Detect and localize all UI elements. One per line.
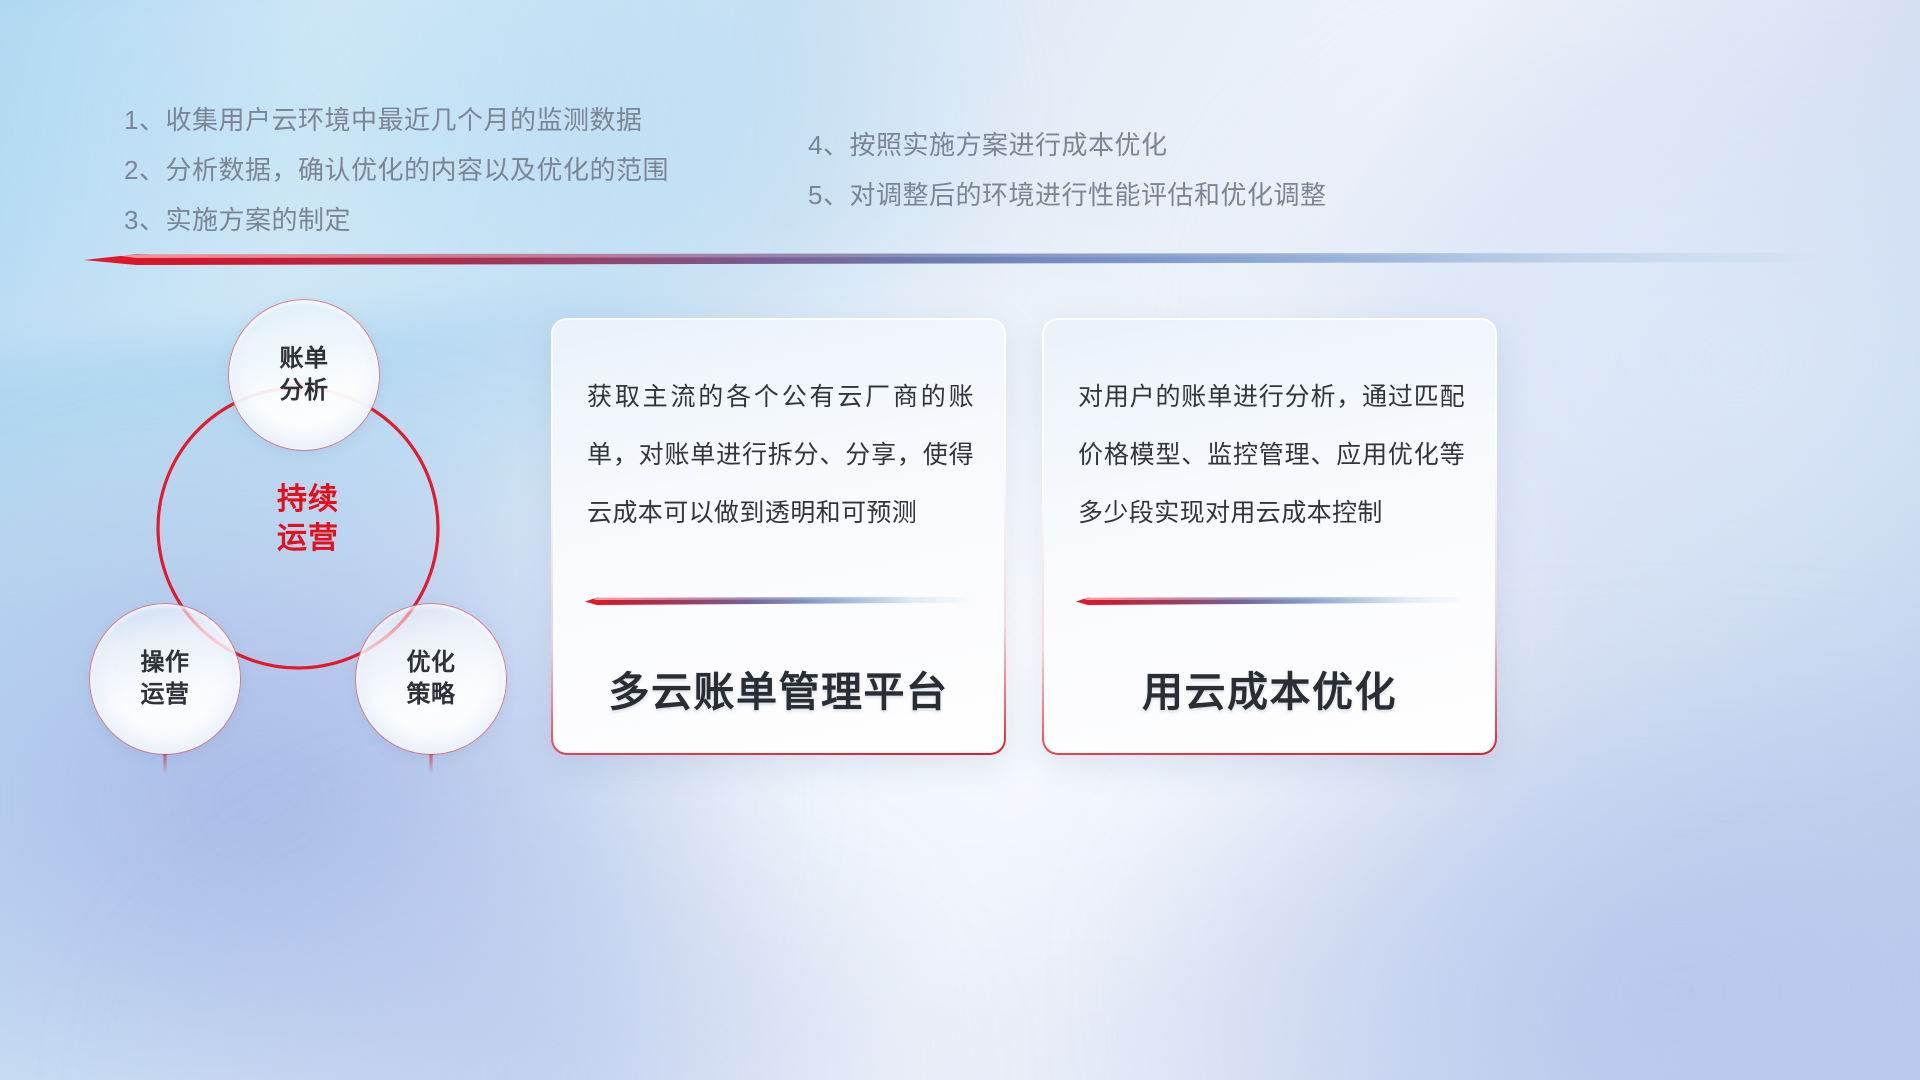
- card-surface: 对用户的账单进行分析，通过匹配价格模型、监控管理、应用优化等多少段实现对用云成本…: [1044, 320, 1495, 753]
- venn-center-line1: 持续: [277, 483, 339, 516]
- step-list-right: 4、按照实施方案进行成本优化 5、对调整后的环境进行性能评估和优化调整: [808, 120, 1568, 220]
- venn-node-label-line1: 账单: [280, 345, 329, 372]
- venn-node-operations[interactable]: 操作 运营: [90, 604, 240, 754]
- venn-diagram: 账单 分析 操作 运营 优化 策略 持续 运营: [78, 288, 548, 788]
- card-divider: [1076, 597, 1466, 605]
- venn-node-label: 优化 策略: [407, 647, 456, 710]
- background-glow-bottom-left: [115, 778, 960, 1080]
- step-item: 4、按照实施方案进行成本优化: [808, 120, 1568, 170]
- step-item: 1、收集用户云环境中最近几个月的监测数据: [124, 95, 884, 145]
- step-item: 2、分析数据，确认优化的内容以及优化的范围: [124, 145, 884, 195]
- venn-node-label-line2: 策略: [407, 681, 456, 708]
- step-item: 5、对调整后的环境进行性能评估和优化调整: [808, 170, 1568, 220]
- venn-node-label-line2: 运营: [141, 681, 190, 708]
- venn-node-label-line2: 分析: [280, 377, 329, 404]
- section-divider: [84, 253, 1832, 265]
- venn-node-bill-analysis[interactable]: 账单 分析: [229, 300, 379, 450]
- venn-node-label-line1: 操作: [141, 649, 190, 676]
- card-divider: [585, 597, 975, 605]
- card-title: 多云账单管理平台: [553, 658, 1004, 718]
- card-title: 用云成本优化: [1044, 658, 1495, 718]
- step-item: 3、实施方案的制定: [124, 195, 884, 245]
- venn-center-line2: 运营: [277, 522, 339, 555]
- venn-node-label: 账单 分析: [280, 343, 329, 406]
- feature-card-cloud-cost-optimization[interactable]: 对用户的账单进行分析，通过匹配价格模型、监控管理、应用优化等多少段实现对用云成本…: [1042, 318, 1497, 755]
- venn-node-label-line1: 优化: [407, 649, 456, 676]
- venn-center-label: 持续 运营: [248, 480, 368, 558]
- card-description: 获取主流的各个公有云厂商的账单，对账单进行拆分、分享，使得云成本可以做到透明和可…: [587, 368, 974, 542]
- card-description: 对用户的账单进行分析，通过匹配价格模型、监控管理、应用优化等多少段实现对用云成本…: [1078, 368, 1465, 542]
- venn-node-optimization-strategy[interactable]: 优化 策略: [356, 604, 506, 754]
- step-list-left: 1、收集用户云环境中最近几个月的监测数据 2、分析数据，确认优化的内容以及优化的…: [124, 95, 884, 245]
- venn-node-label: 操作 运营: [141, 647, 190, 710]
- feature-card-multicloud-billing[interactable]: 获取主流的各个公有云厂商的账单，对账单进行拆分、分享，使得云成本可以做到透明和可…: [551, 318, 1006, 755]
- card-surface: 获取主流的各个公有云厂商的账单，对账单进行拆分、分享，使得云成本可以做到透明和可…: [553, 320, 1004, 753]
